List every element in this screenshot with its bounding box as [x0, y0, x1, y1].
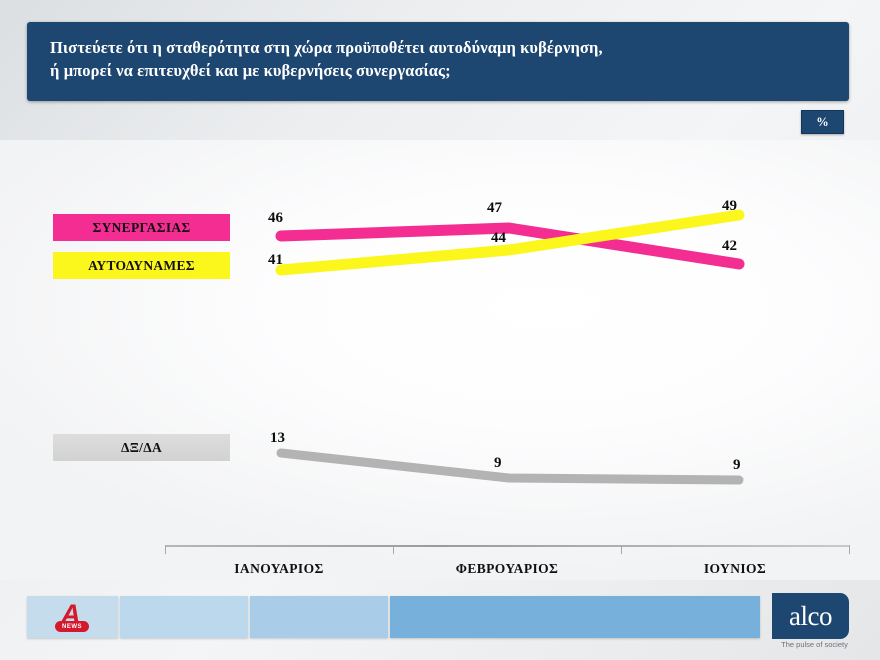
x-axis-tick-4 — [849, 545, 850, 554]
footer-block-3 — [250, 596, 388, 638]
question-line-1: Πιστεύετε ότι η σταθερότητα στη χώρα προ… — [50, 36, 849, 59]
alco-logo: alco — [772, 593, 849, 639]
footer-block-2 — [120, 596, 248, 638]
x-axis-label-fevrouarios: ΦΕΒΡΟΥΑΡΙΟΣ — [393, 561, 621, 577]
alco-tagline: The pulse of society — [772, 640, 857, 649]
percent-unit-badge: % — [801, 110, 844, 134]
data-label-aftodynames-jan: 41 — [268, 252, 283, 269]
series-lines — [0, 140, 880, 580]
x-axis-tick-3 — [621, 545, 622, 554]
x-axis: ΙΑΝΟΥΑΡΙΟΣ ΦΕΒΡΟΥΑΡΙΟΣ ΙΟΥΝΙΟΣ — [0, 540, 880, 588]
news-pill-label: NEWS — [55, 621, 89, 632]
question-title-box: Πιστεύετε ότι η σταθερότητα στη χώρα προ… — [27, 22, 849, 101]
x-axis-line — [165, 545, 850, 547]
data-label-dk-da-feb: 9 — [494, 455, 502, 472]
chart-plot-area: ΣΥΝΕΡΓΑΣΙΑΣ ΑΥΤΟΔΥΝΑΜΕΣ ΔΞ/ΔΑ 46 47 42 4… — [0, 140, 880, 580]
question-line-2: ή μπορεί να επιτευχθεί και με κυβερνήσει… — [50, 59, 849, 82]
data-label-dk-da-jun: 9 — [733, 457, 741, 474]
alco-logo-text: alco — [789, 603, 832, 630]
footer-bar: A NEWS alco The pulse of society — [0, 588, 880, 660]
data-label-synergasias-jan: 46 — [268, 210, 283, 227]
x-axis-label-ianouarios: ΙΑΝΟΥΑΡΙΟΣ — [165, 561, 393, 577]
line-series-dk-da — [281, 453, 739, 480]
x-axis-tick-1 — [165, 545, 166, 554]
data-label-dk-da-jan: 13 — [270, 430, 285, 447]
data-label-aftodynames-feb: 44 — [491, 230, 506, 247]
x-axis-label-iounios: ΙΟΥΝΙΟΣ — [621, 561, 849, 577]
x-axis-tick-2 — [393, 545, 394, 554]
data-label-synergasias-feb: 47 — [487, 200, 502, 217]
footer-block-4 — [390, 596, 760, 638]
alpha-news-logo: A NEWS — [55, 601, 91, 634]
data-label-synergasias-jun: 42 — [722, 238, 737, 255]
data-label-aftodynames-jun: 49 — [722, 198, 737, 215]
